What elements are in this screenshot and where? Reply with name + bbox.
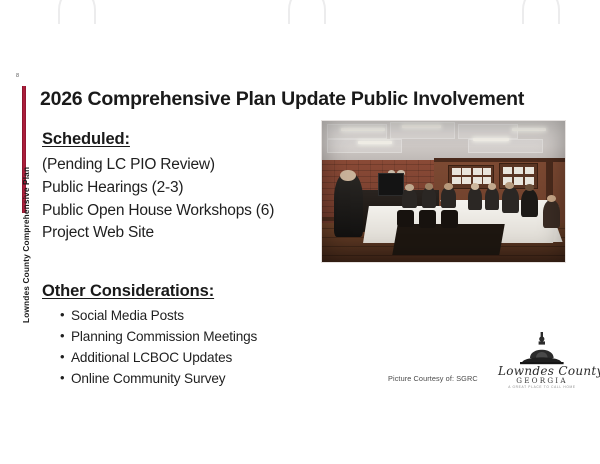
logo-tagline: A GREAT PLACE TO CALL HOME (498, 385, 586, 389)
meeting-photo (322, 121, 565, 262)
binding-hole-icon (58, 0, 96, 24)
section-heading-other: Other Considerations: (42, 282, 332, 301)
list-item: Online Community Survey (60, 369, 332, 390)
scheduled-line: Public Hearings (2-3) (42, 177, 332, 200)
slide-page: 8 Lowndes County Comprehensive Plan 2026… (0, 0, 600, 464)
section-other-considerations: Other Considerations: Social Media Posts… (42, 282, 332, 390)
page-title: 2026 Comprehensive Plan Update Public In… (40, 88, 524, 111)
list-item: Additional LCBOC Updates (60, 348, 332, 369)
photo-vignette (322, 121, 565, 262)
section-scheduled: Scheduled: (Pending LC PIO Review) Publi… (42, 130, 332, 245)
list-item: Planning Commission Meetings (60, 327, 332, 348)
courthouse-dome-icon (516, 332, 568, 368)
section-heading-scheduled: Scheduled: (42, 130, 332, 149)
photo-caption: Picture Courtesy of: SGRC (388, 374, 478, 383)
scheduled-line: Public Open House Workshops (6) (42, 200, 332, 223)
side-label: Lowndes County Comprehensive Plan (21, 175, 31, 323)
binding-hole-icon (522, 0, 560, 24)
binding-hole-icon (288, 0, 326, 24)
page-number: 8 (16, 74, 19, 80)
other-bullet-list: Social Media Posts Planning Commission M… (42, 306, 332, 390)
lowndes-county-logo: Lowndes County GEORGIA A GREAT PLACE TO … (498, 330, 586, 392)
scheduled-line: (Pending LC PIO Review) (42, 154, 332, 177)
logo-state-text: GEORGIA (498, 376, 586, 385)
scheduled-line: Project Web Site (42, 222, 332, 245)
list-item: Social Media Posts (60, 306, 332, 327)
